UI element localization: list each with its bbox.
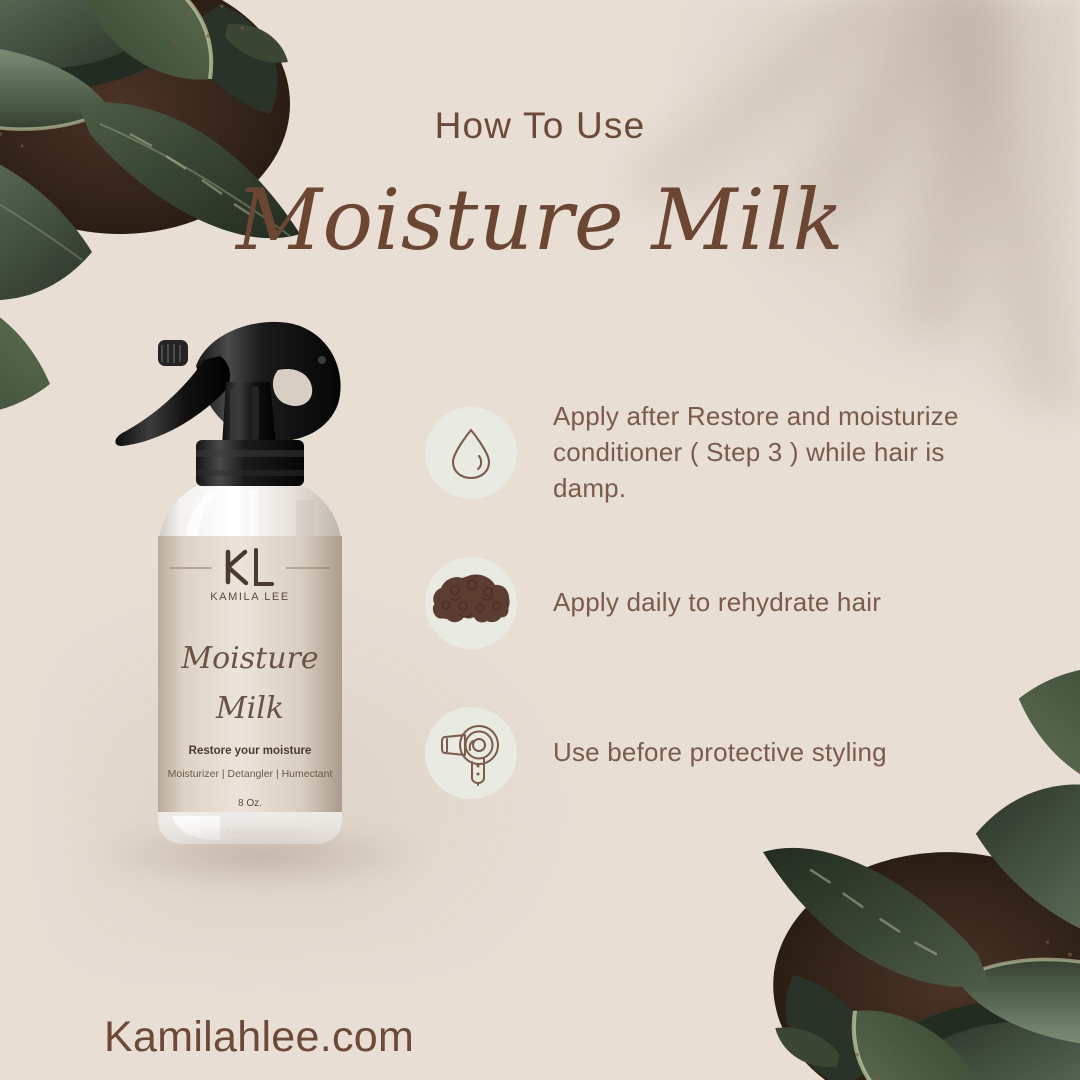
curly-hair-icon — [430, 572, 512, 628]
hair-dryer-icon — [439, 721, 503, 785]
list-item: Use before protective styling — [425, 678, 985, 828]
step-text: Apply daily to rehydrate hair — [553, 585, 881, 621]
list-item: Apply daily to rehydrate hair — [425, 528, 985, 678]
bottle-tagline: Restore your moisture — [189, 745, 312, 757]
bottle-product-name-2: Milk — [215, 691, 284, 726]
bottle-benefits: Moisturizer | Detangler | Humectant — [168, 768, 333, 780]
palm-shadow-frond-4 — [630, 0, 960, 200]
bottle-illustration: KAMILA LEE Moisture Milk Restore your mo… — [100, 300, 420, 880]
trigger-sprayer — [115, 322, 340, 486]
product-bottle: KAMILA LEE Moisture Milk Restore your mo… — [100, 300, 420, 880]
list-item: Apply after Restore and moisturize condi… — [425, 378, 985, 528]
step-text: Apply after Restore and moisturize condi… — [553, 399, 973, 507]
step-text: Use before protective styling — [553, 735, 887, 771]
water-drop-icon — [447, 426, 495, 480]
step-badge — [425, 707, 517, 799]
bottle-product-name-1: Moisture — [180, 641, 318, 676]
steps-list: Apply after Restore and moisturize condi… — [425, 378, 985, 828]
bottle-brand-name: KAMILA LEE — [210, 591, 290, 603]
step-badge — [425, 557, 517, 649]
bottle-size: 8 Oz. — [238, 798, 262, 809]
footer-website: Kamilahlee.com — [104, 1013, 414, 1062]
step-badge — [425, 407, 517, 499]
page-kicker: How To Use — [0, 105, 1080, 147]
poster-canvas: How To Use Moisture Milk — [0, 0, 1080, 1080]
palm-shadow-frond-2 — [740, 0, 1080, 330]
bottle-drop-shadow — [90, 820, 430, 890]
page-title: Moisture Milk — [0, 176, 1080, 265]
